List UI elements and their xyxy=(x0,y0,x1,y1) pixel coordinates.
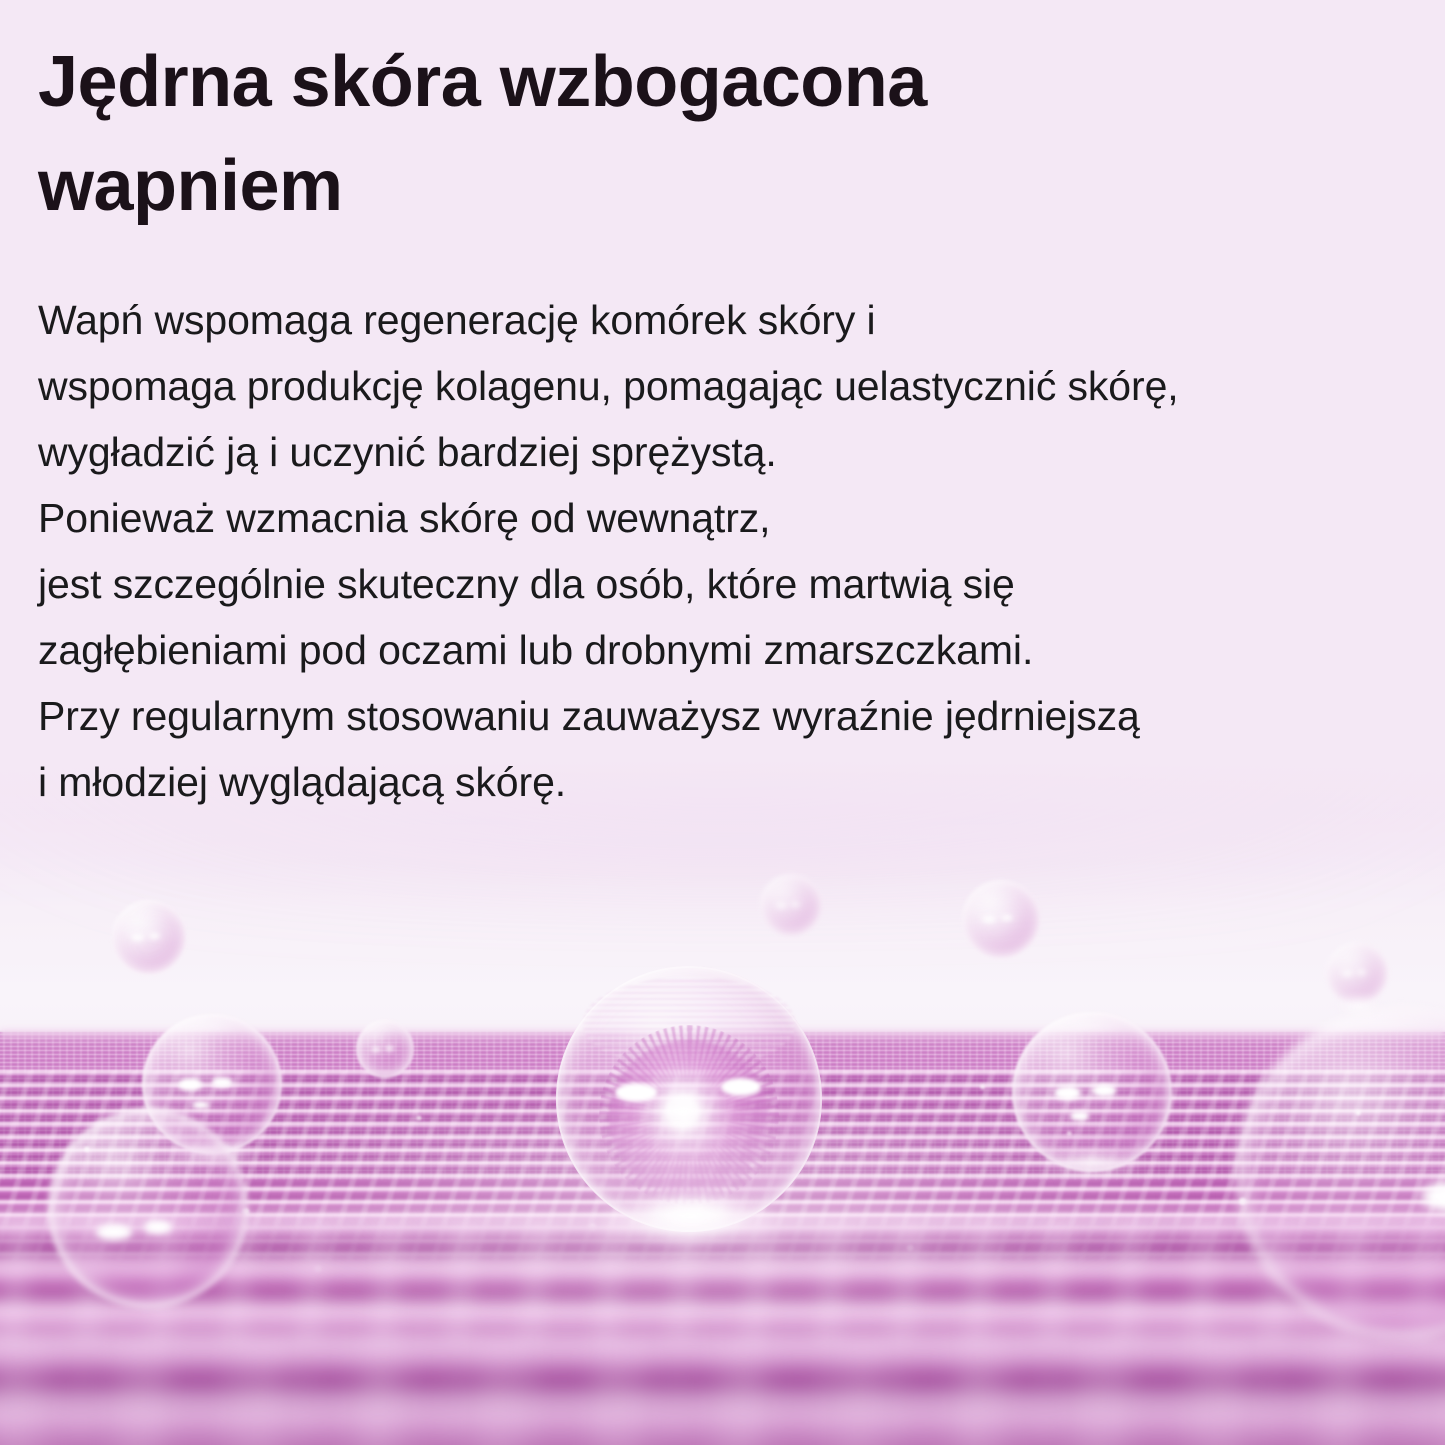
sphere-glint xyxy=(178,1078,202,1091)
body-line: zagłębieniami pod oczami lub drobnymi zm… xyxy=(38,617,1368,683)
body-copy: Wapń wspomaga regenerację komórek skóry … xyxy=(38,287,1368,815)
right-small-bubble xyxy=(1326,942,1388,1004)
sphere-glint xyxy=(1054,1086,1081,1100)
sphere-glint xyxy=(615,1083,658,1102)
promo-panel: Jędrna skóra wzbogacona wapniem Wapń wsp… xyxy=(0,0,1445,1445)
bubble-glint xyxy=(1357,970,1366,975)
bubble-glint xyxy=(982,916,995,923)
center-bubble xyxy=(760,874,822,936)
body-line: wygładzić ją i uczynić bardziej sprężyst… xyxy=(38,419,1368,485)
bubble-glint xyxy=(371,1047,381,1052)
body-line: Przy regularnym stosowaniu zauważysz wyr… xyxy=(38,683,1368,749)
far-left-bubble xyxy=(112,900,186,974)
bubble-glint xyxy=(131,934,144,941)
bubble-glint xyxy=(385,1046,394,1051)
sphere-glint xyxy=(721,1078,761,1097)
body-line: jest szczególnie skuteczny dla osób, któ… xyxy=(38,551,1368,617)
bubble-glint xyxy=(776,903,787,909)
mesh-texture-foreground xyxy=(0,1330,1445,1445)
scene-bloom xyxy=(0,1120,1445,1320)
body-line: i młodziej wyglądającą skórę. xyxy=(38,749,1368,815)
sphere-glint xyxy=(1092,1084,1116,1097)
bubble-glint xyxy=(1342,971,1353,977)
body-line: Ponieważ wzmacnia skórę od wewnątrz, xyxy=(38,485,1368,551)
page-title: Jędrna skóra wzbogacona wapniem xyxy=(38,30,1218,239)
right-top-bubble xyxy=(962,880,1040,958)
mid-left-bubble xyxy=(356,1020,414,1078)
body-line: wspomaga produkcję kolagenu, pomagając u… xyxy=(38,353,1368,419)
bubble-glint xyxy=(791,902,800,907)
body-line: Wapń wspomaga regenerację komórek skóry … xyxy=(38,287,1368,353)
